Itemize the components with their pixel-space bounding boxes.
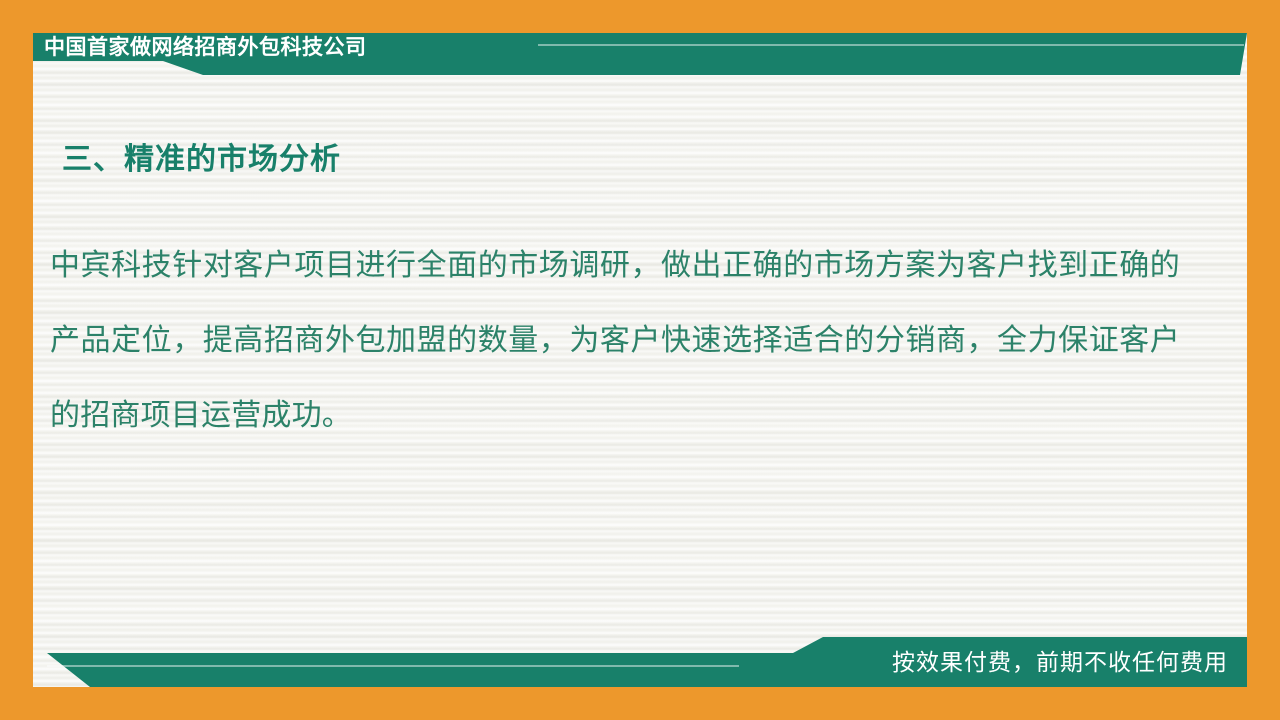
footer-slogan: 按效果付费，前期不收任何费用: [892, 645, 1228, 679]
footer-hairline-divider: [47, 665, 739, 667]
page-title: 三、精准的市场分析: [62, 134, 341, 178]
header-hairline-divider: [538, 44, 1244, 46]
header-banner-text: 中国首家做网络招商外包科技公司: [44, 33, 367, 61]
presentation-slide: 中国首家做网络招商外包科技公司 三、精准的市场分析 中宾科技针对客户项目进行全面…: [0, 0, 1280, 720]
body-paragraph: 中宾科技针对客户项目进行全面的市场调研，做出正确的市场方案为客户找到正确的产品定…: [50, 228, 1180, 453]
